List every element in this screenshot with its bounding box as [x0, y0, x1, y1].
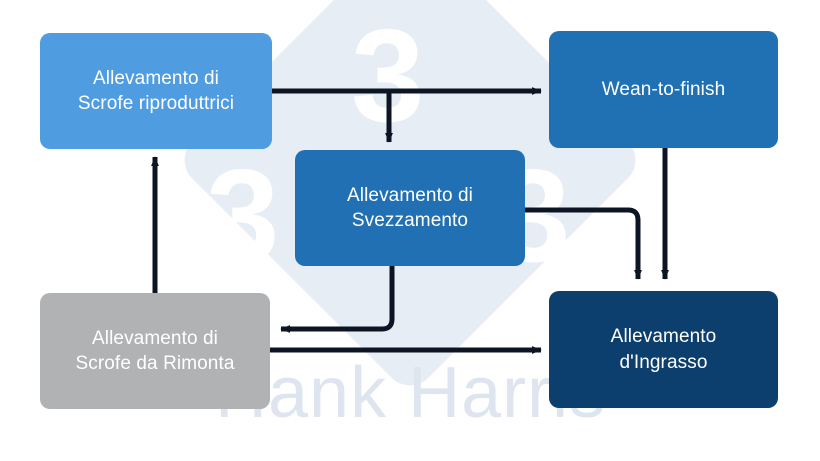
node-gilt-farm-label: Allevamento di Scrofe da Rimonta [75, 326, 234, 376]
edge-nursery-to-gilt [281, 266, 392, 329]
diagram-canvas: 3 3 3 Hank Harris Allevamento di Scrofe … [0, 0, 820, 461]
node-wean-to-finish-label: Wean-to-finish [602, 77, 726, 102]
node-nursery-farm[interactable]: Allevamento di Svezzamento [295, 150, 525, 266]
edge-nursery-to-finishing [525, 210, 638, 279]
node-finishing-farm[interactable]: Allevamento d'Ingrasso [549, 291, 778, 408]
node-sow-farm[interactable]: Allevamento di Scrofe riproduttrici [40, 33, 272, 149]
node-gilt-farm[interactable]: Allevamento di Scrofe da Rimonta [40, 293, 270, 409]
node-sow-farm-label: Allevamento di Scrofe riproduttrici [78, 66, 234, 116]
node-nursery-farm-label: Allevamento di Svezzamento [347, 183, 473, 233]
node-wean-to-finish[interactable]: Wean-to-finish [549, 31, 778, 148]
node-finishing-farm-label: Allevamento d'Ingrasso [611, 324, 717, 374]
